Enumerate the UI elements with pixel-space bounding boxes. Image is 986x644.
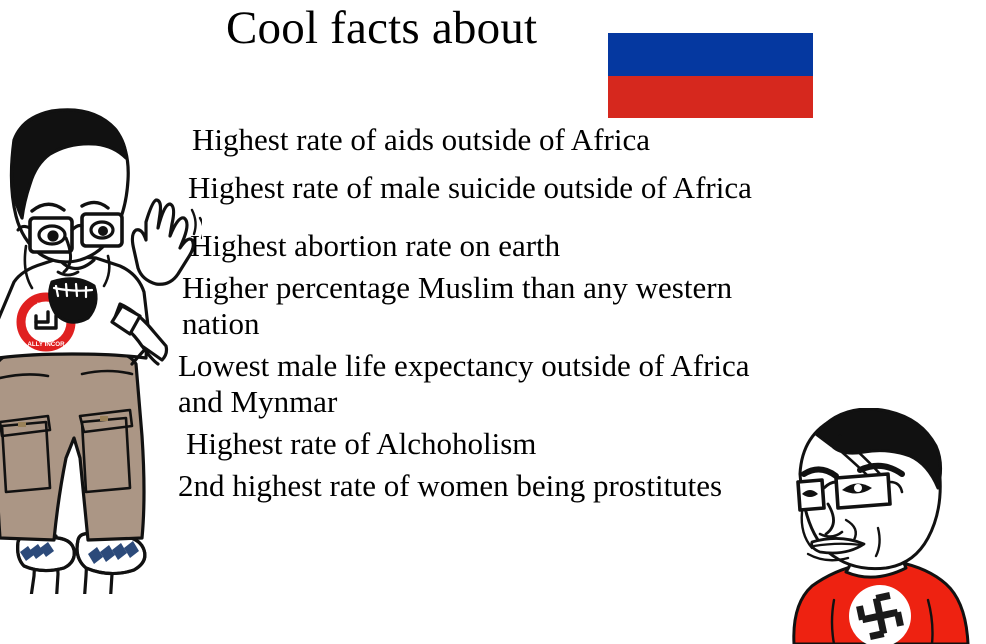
smug-wojak-figure bbox=[778, 408, 986, 644]
fact-item: Lowest male life expectancy outside of A… bbox=[178, 348, 776, 420]
fact-item: Highest rate of Alchoholism bbox=[186, 426, 776, 462]
meme-canvas: Cool facts about Highest rate of aids ou… bbox=[0, 0, 986, 644]
haiti-flag bbox=[608, 33, 813, 118]
flag-blue-band bbox=[608, 33, 813, 76]
fact-list: Highest rate of aids outside of Africa H… bbox=[176, 118, 776, 504]
fact-item: Highest rate of male suicide outside of … bbox=[188, 170, 776, 206]
flag-red-band bbox=[608, 76, 813, 119]
fact-item: 2nd highest rate of women being prostitu… bbox=[178, 468, 776, 504]
fact-item: Highest rate of aids outside of Africa bbox=[192, 122, 776, 158]
soyjak-shouting-figure: /POLI ALLY INCOR bbox=[0, 106, 202, 594]
soyjak-shouting-drawing: /POLI ALLY INCOR bbox=[0, 106, 202, 594]
fact-item: Higher percentage Muslim than any wester… bbox=[182, 270, 776, 342]
smug-wojak-drawing bbox=[778, 408, 986, 644]
page-title: Cool facts about bbox=[226, 2, 537, 55]
svg-text:ALLY INCOR: ALLY INCOR bbox=[27, 341, 65, 348]
fact-item: Highest abortion rate on earth bbox=[190, 228, 776, 264]
